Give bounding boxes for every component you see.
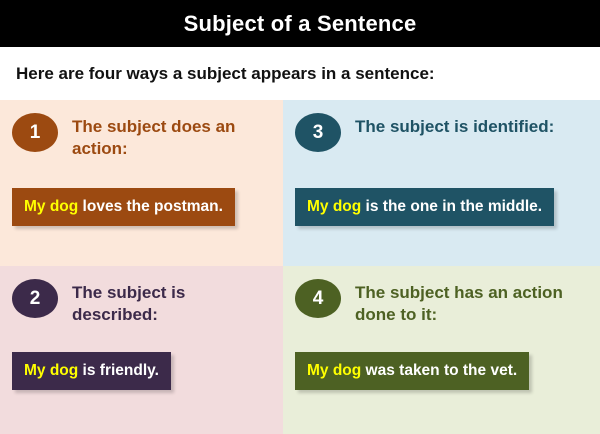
intro-band: Here are four ways a subject appears in … xyxy=(0,47,600,100)
quadrant-2-heading: The subject is described: xyxy=(72,279,273,327)
quadrant-4-number-badge: 4 xyxy=(295,279,341,318)
quadrant-grid: 1 The subject does an action: My dog lov… xyxy=(0,100,600,434)
quadrant-1: 1 The subject does an action: My dog lov… xyxy=(0,100,283,266)
quadrant-3: 3 The subject is identified: My dog is t… xyxy=(283,100,600,266)
quadrant-2-example-rest: is friendly. xyxy=(78,362,159,379)
title-bar: Subject of a Sentence xyxy=(0,0,600,47)
quadrant-2: 2 The subject is described: My dog is fr… xyxy=(0,266,283,434)
quadrant-2-example-box: My dog is friendly. xyxy=(12,352,171,390)
quadrant-1-number: 1 xyxy=(30,122,41,144)
quadrant-2-number: 2 xyxy=(30,288,41,310)
quadrant-4-example-box: My dog was taken to the vet. xyxy=(295,352,529,390)
quadrant-2-number-badge: 2 xyxy=(12,279,58,318)
quadrant-1-example-subject: My dog xyxy=(24,198,78,215)
quadrant-1-heading: The subject does an action: xyxy=(72,113,273,161)
quadrant-1-number-badge: 1 xyxy=(12,113,58,152)
quadrant-3-number: 3 xyxy=(313,122,324,144)
quadrant-3-example-box: My dog is the one in the middle. xyxy=(295,188,554,226)
quadrant-4-number: 4 xyxy=(313,288,324,310)
page-title: Subject of a Sentence xyxy=(184,11,417,37)
intro-text: Here are four ways a subject appears in … xyxy=(16,64,435,84)
quadrant-4-example-subject: My dog xyxy=(307,362,361,379)
quadrant-4-header: 4 The subject has an action done to it: xyxy=(295,279,590,327)
quadrant-3-number-badge: 3 xyxy=(295,113,341,152)
quadrant-3-header: 3 The subject is identified: xyxy=(295,113,590,152)
quadrant-2-example-subject: My dog xyxy=(24,362,78,379)
quadrant-1-header: 1 The subject does an action: xyxy=(12,113,273,161)
quadrant-4-example-rest: was taken to the vet. xyxy=(361,362,517,379)
quadrant-3-example-subject: My dog xyxy=(307,198,361,215)
quadrant-1-example-rest: loves the postman. xyxy=(78,198,223,215)
quadrant-3-heading: The subject is identified: xyxy=(355,113,554,138)
quadrant-3-example-rest: is the one in the middle. xyxy=(361,198,542,215)
quadrant-1-example-box: My dog loves the postman. xyxy=(12,188,235,226)
quadrant-4: 4 The subject has an action done to it: … xyxy=(283,266,600,434)
quadrant-4-heading: The subject has an action done to it: xyxy=(355,279,590,327)
quadrant-2-header: 2 The subject is described: xyxy=(12,279,273,327)
infographic-page: Subject of a Sentence Here are four ways… xyxy=(0,0,600,434)
